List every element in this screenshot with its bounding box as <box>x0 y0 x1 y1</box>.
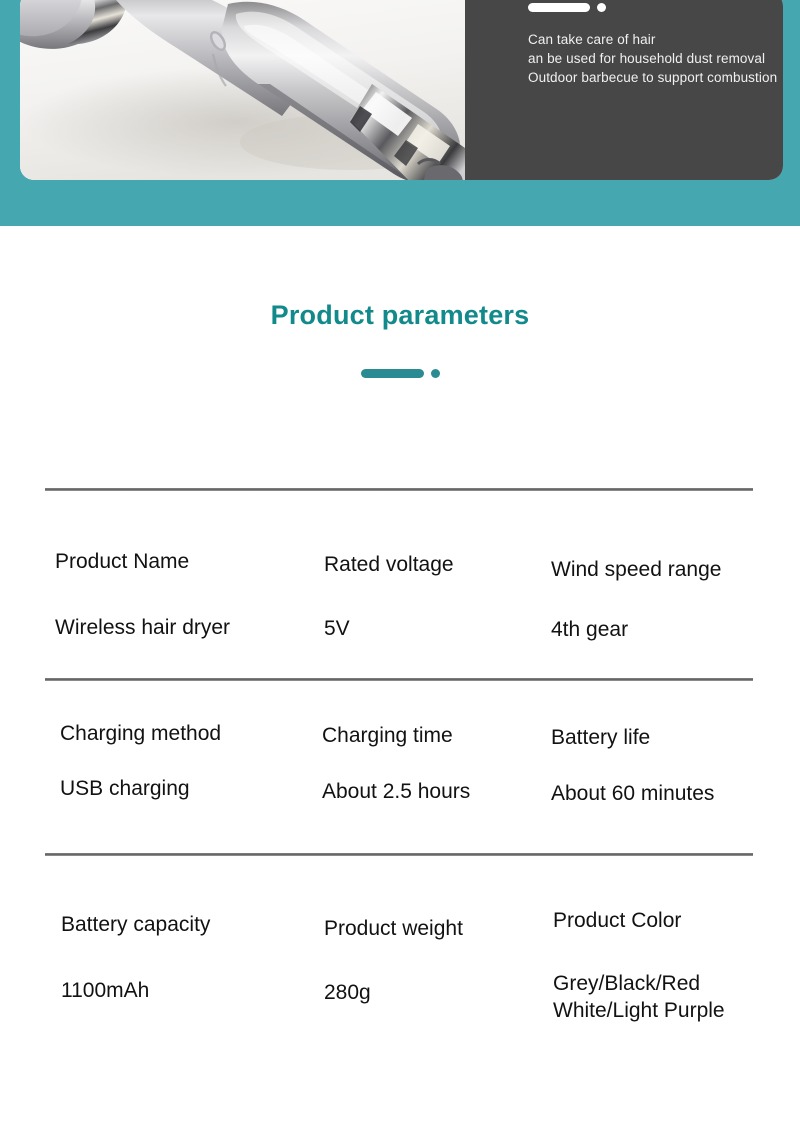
table-row: Product Name Wireless hair dryer Rated v… <box>45 491 753 678</box>
spec-cell-battery-life: Battery life About 60 minutes <box>545 681 753 853</box>
spec-label: Wind speed range <box>551 557 721 582</box>
spec-cell-product-name: Product Name Wireless hair dryer <box>45 491 322 678</box>
panel-feature-line-2: an be used for household dust removal <box>528 49 777 68</box>
hair-dryer-illustration <box>20 0 465 180</box>
spec-value: About 2.5 hours <box>322 778 470 805</box>
spec-cell-battery-capacity: Battery capacity 1100mAh <box>45 856 322 1056</box>
title-dash-dot-icon <box>431 369 440 378</box>
hero-description-panel: Can take care of hair an be used for hou… <box>465 0 783 180</box>
section-title: Product parameters <box>0 300 800 331</box>
dash-dot-icon <box>597 3 606 12</box>
spec-value: About 60 minutes <box>551 780 714 807</box>
table-row: Charging method USB charging Charging ti… <box>45 681 753 853</box>
panel-feature-list: Can take care of hair an be used for hou… <box>528 30 777 87</box>
spec-label: Battery life <box>551 725 650 750</box>
spec-cell-rated-voltage: Rated voltage 5V <box>322 491 545 678</box>
spec-label: Product weight <box>324 916 463 941</box>
spec-cell-wind-speed-range: Wind speed range 4th gear <box>545 491 753 678</box>
title-dash-bar-icon <box>361 369 424 378</box>
product-photo-hair-dryer <box>20 0 465 180</box>
spec-cell-charging-time: Charging time About 2.5 hours <box>322 681 545 853</box>
spec-value: 1100mAh <box>61 977 149 1004</box>
spec-value: 4th gear <box>551 616 628 643</box>
panel-feature-line-1: Can take care of hair <box>528 30 777 49</box>
spec-label: Rated voltage <box>324 552 454 577</box>
spec-label: Battery capacity <box>61 912 210 937</box>
spec-label: Charging time <box>322 723 453 748</box>
panel-dash-dot-ornament-icon <box>528 3 606 12</box>
dash-bar-icon <box>528 3 590 12</box>
spec-label: Product Name <box>55 549 189 574</box>
spec-cell-charging-method: Charging method USB charging <box>45 681 322 853</box>
table-row: Battery capacity 1100mAh Product weight … <box>45 856 753 1056</box>
product-parameters-table: Product Name Wireless hair dryer Rated v… <box>45 488 753 1056</box>
spec-value: 280g <box>324 979 371 1006</box>
section-dash-dot-ornament-icon <box>0 369 800 378</box>
spec-cell-product-color: Product Color Grey/Black/Red White/Light… <box>545 856 753 1056</box>
spec-value: USB charging <box>60 775 190 802</box>
spec-label: Charging method <box>60 721 221 746</box>
hero-card: Can take care of hair an be used for hou… <box>20 0 783 180</box>
panel-feature-line-3: Outdoor barbecue to support combustion <box>528 68 777 87</box>
spec-cell-product-weight: Product weight 280g <box>322 856 545 1056</box>
spec-value: 5V <box>324 615 350 642</box>
spec-value: Wireless hair dryer <box>55 614 230 641</box>
spec-label: Product Color <box>553 908 681 933</box>
spec-value: Grey/Black/Red White/Light Purple <box>553 970 793 1024</box>
hero-banner: Can take care of hair an be used for hou… <box>0 0 800 226</box>
